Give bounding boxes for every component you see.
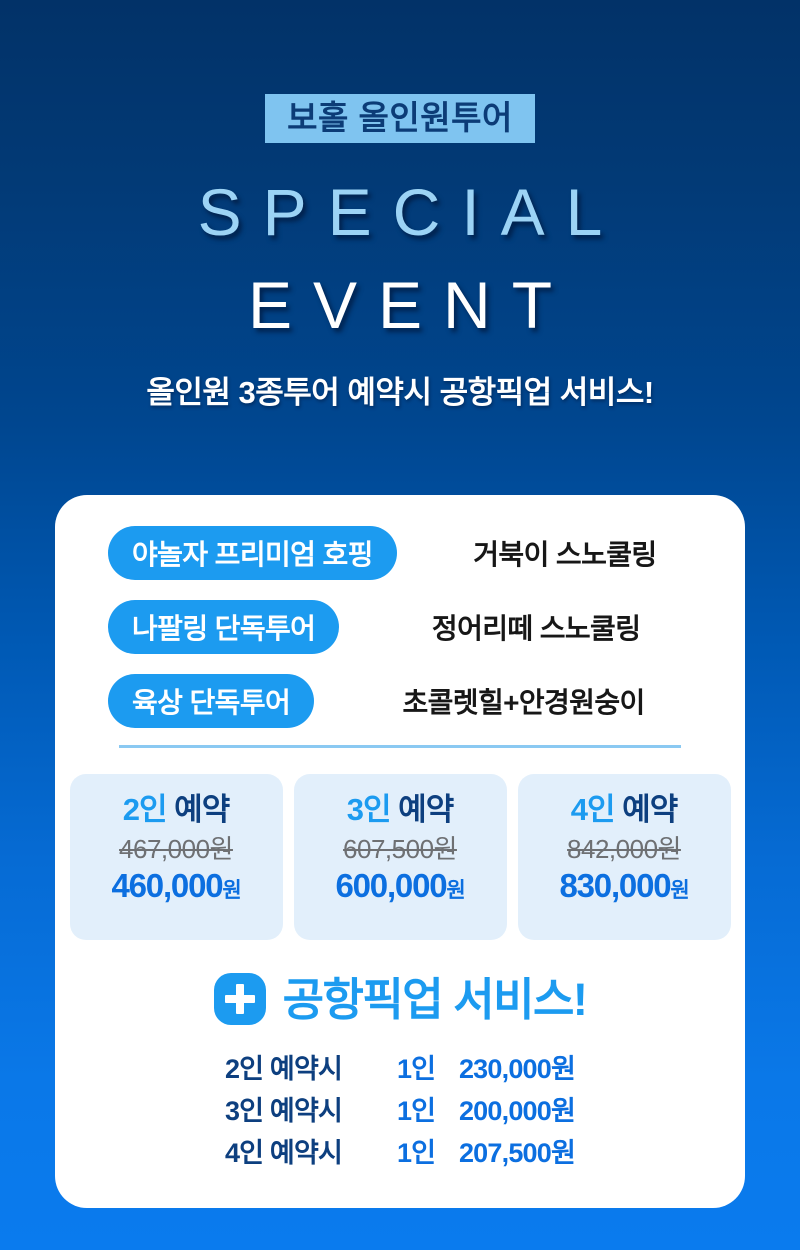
currency-unit: 원 (670, 879, 688, 902)
tour-pill-2[interactable]: 나팔링 단독투어 (108, 600, 339, 654)
section-divider (119, 745, 681, 748)
tour-desc-2: 정어리떼 스노쿨링 (339, 607, 745, 647)
pickup-headline-text: 공항픽업 서비스! (283, 977, 587, 1022)
price-discounted: 460,000원 (70, 868, 283, 904)
price-card-title: 3인 예약 (294, 794, 507, 827)
tour-pill-3[interactable]: 육상 단독투어 (108, 674, 314, 728)
per-person-label: 4인 예약시 (225, 1131, 397, 1170)
price-original: 607,500원 (294, 835, 507, 864)
tour-pill-1[interactable]: 야놀자 프리미엄 호핑 (108, 526, 397, 580)
price-card-count: 3인 (347, 792, 391, 827)
price-card-list: 2인 예약 467,000원 460,000원 3인 예약 607,500원 6… (55, 774, 745, 940)
tour-row: 나팔링 단독투어 정어리떼 스노쿨링 (55, 596, 745, 658)
hero-subtitle: 올인원 3종투어 예약시 공항픽업 서비스! (0, 376, 800, 410)
hero-title-event: EVENT (0, 272, 800, 338)
price-original: 467,000원 (70, 835, 283, 864)
price-card-3인[interactable]: 3인 예약 607,500원 600,000원 (294, 774, 507, 940)
badge-wrapper: 보홀 올인원투어 (0, 94, 800, 143)
pickup-headline: 공항픽업 서비스! (55, 973, 745, 1025)
price-card-title: 4인 예약 (518, 794, 731, 827)
per-person-row: 3인 예약시 1인 200,000원 (225, 1089, 575, 1128)
currency-unit: 원 (222, 879, 240, 902)
price-card-count: 4인 (571, 792, 615, 827)
price-value: 830,000 (559, 867, 670, 904)
price-value: 600,000 (335, 867, 446, 904)
per-person-label: 2인 예약시 (225, 1047, 397, 1086)
per-person-price: 230,000원 (459, 1047, 575, 1086)
tour-row: 야놀자 프리미엄 호핑 거북이 스노쿨링 (55, 522, 745, 584)
per-person-row: 4인 예약시 1인 207,500원 (225, 1131, 575, 1170)
hero-badge: 보홀 올인원투어 (265, 94, 535, 143)
tour-list: 야놀자 프리미엄 호핑 거북이 스노쿨링 나팔링 단독투어 정어리떼 스노쿨링 … (55, 495, 745, 732)
price-discounted: 600,000원 (294, 868, 507, 904)
per-person-unit: 1인 (397, 1089, 459, 1128)
offer-panel: 야놀자 프리미엄 호핑 거북이 스노쿨링 나팔링 단독투어 정어리떼 스노쿨링 … (55, 495, 745, 1208)
tour-desc-1: 거북이 스노쿨링 (397, 533, 745, 573)
per-person-label: 3인 예약시 (225, 1089, 397, 1128)
per-person-price: 207,500원 (459, 1131, 575, 1170)
per-person-price: 200,000원 (459, 1089, 575, 1128)
price-discounted: 830,000원 (518, 868, 731, 904)
price-card-2인[interactable]: 2인 예약 467,000원 460,000원 (70, 774, 283, 940)
hero-title-special: SPECIAL (0, 179, 800, 245)
price-card-word: 예약 (398, 792, 453, 827)
per-person-unit: 1인 (397, 1131, 459, 1170)
tour-row: 육상 단독투어 초콜렛힐+안경원숭이 (55, 670, 745, 732)
hero-section: 보홀 올인원투어 SPECIAL EVENT 올인원 3종투어 예약시 공항픽업… (0, 0, 800, 410)
price-card-count: 2인 (123, 792, 167, 827)
price-card-word: 예약 (174, 792, 229, 827)
tour-desc-3: 초콜렛힐+안경원숭이 (314, 681, 745, 721)
plus-icon (214, 973, 266, 1025)
price-card-4인[interactable]: 4인 예약 842,000원 830,000원 (518, 774, 731, 940)
per-person-unit: 1인 (397, 1047, 459, 1086)
price-card-title: 2인 예약 (70, 794, 283, 827)
price-card-word: 예약 (622, 792, 677, 827)
price-original: 842,000원 (518, 835, 731, 864)
per-person-row: 2인 예약시 1인 230,000원 (225, 1047, 575, 1086)
per-person-price-list: 2인 예약시 1인 230,000원 3인 예약시 1인 200,000원 4인… (55, 1047, 745, 1170)
price-value: 460,000 (111, 867, 222, 904)
currency-unit: 원 (446, 879, 464, 902)
